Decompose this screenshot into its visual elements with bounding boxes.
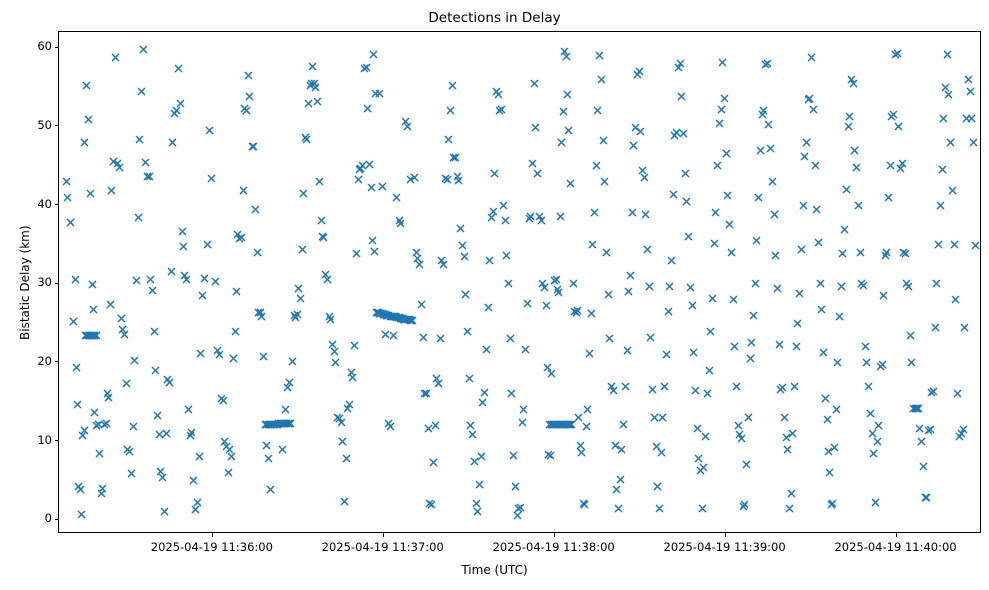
x-tick-label: 2025-04-19 11:36:00 (132, 540, 292, 554)
scatter-marker (495, 106, 504, 115)
scatter-marker (771, 251, 780, 260)
scatter-marker (345, 400, 354, 409)
scatter-marker (475, 480, 484, 489)
scatter-marker (662, 350, 671, 359)
scatter-marker (165, 378, 174, 387)
scatter-marker (617, 445, 626, 454)
scatter-marker (553, 285, 562, 294)
scatter-marker (911, 404, 920, 413)
scatter-marker (788, 429, 797, 438)
y-tick-mark (55, 204, 59, 205)
scatter-marker (787, 489, 796, 498)
scatter-marker (778, 383, 787, 392)
scatter-marker (88, 331, 97, 340)
scatter-marker (384, 311, 393, 320)
scatter-marker (691, 386, 700, 395)
scatter-marker (235, 234, 244, 243)
scatter-marker (95, 449, 104, 458)
scatter-marker (367, 183, 376, 192)
scatter-marker (195, 452, 204, 461)
scatter-marker (484, 303, 493, 312)
scatter-marker (72, 363, 81, 372)
scatter-marker (840, 225, 849, 234)
scatter-marker (684, 232, 693, 241)
scatter-marker (180, 271, 189, 280)
scatter-marker (137, 87, 146, 96)
scatter-marker (139, 45, 148, 54)
scatter-marker (90, 331, 99, 340)
scatter-marker (153, 411, 162, 420)
scatter-marker (265, 420, 274, 429)
scatter-marker (655, 504, 664, 513)
scatter-marker (579, 499, 588, 508)
scatter-marker (971, 241, 980, 250)
scatter-marker (545, 420, 554, 429)
scatter-marker (825, 468, 834, 477)
scatter-marker (914, 404, 923, 413)
scatter-marker (129, 422, 138, 431)
scatter-marker (454, 176, 463, 185)
scatter-marker (451, 153, 460, 162)
scatter-marker (465, 374, 474, 383)
scatter-marker (898, 159, 907, 168)
y-tick-label: 40 (24, 197, 52, 211)
scatter-points-layer (59, 32, 980, 532)
scatter-marker (134, 213, 143, 222)
scatter-marker (368, 236, 377, 245)
scatter-marker (298, 245, 307, 254)
scatter-marker (844, 122, 853, 131)
scatter-marker (308, 62, 317, 71)
scatter-marker (835, 312, 844, 321)
scatter-marker (944, 90, 953, 99)
scatter-marker (936, 201, 945, 210)
scatter-marker (934, 240, 943, 249)
scatter-marker (946, 138, 955, 147)
scatter-marker (538, 279, 547, 288)
scatter-marker (231, 327, 240, 336)
scatter-marker (635, 67, 644, 76)
scatter-marker (386, 422, 395, 431)
scatter-marker (715, 119, 724, 128)
scatter-marker (427, 500, 436, 509)
scatter-marker (92, 421, 101, 430)
scatter-marker (546, 451, 555, 460)
scatter-marker (331, 358, 340, 367)
scatter-marker (315, 177, 324, 186)
scatter-marker (847, 75, 856, 84)
scatter-marker (576, 441, 585, 450)
scatter-marker (600, 177, 609, 186)
scatter-marker (325, 312, 334, 321)
scatter-marker (111, 53, 120, 62)
scatter-marker (909, 404, 918, 413)
scatter-marker (519, 405, 528, 414)
scatter-marker (98, 484, 107, 493)
scatter-marker (874, 421, 883, 430)
scatter-marker (254, 308, 263, 317)
scatter-marker (443, 175, 452, 184)
scatter-marker (145, 172, 154, 181)
scatter-marker (525, 214, 534, 223)
scatter-marker (179, 242, 188, 251)
scatter-marker (172, 106, 181, 115)
scatter-marker (595, 51, 604, 60)
scatter-marker (873, 437, 882, 446)
scatter-marker (737, 434, 746, 443)
scatter-marker (182, 275, 191, 284)
scatter-marker (294, 284, 303, 293)
x-tick-mark (212, 533, 213, 537)
scatter-marker (81, 331, 90, 340)
scatter-marker (363, 104, 372, 113)
scatter-marker (102, 419, 111, 428)
scatter-marker (605, 334, 614, 343)
scatter-marker (146, 275, 155, 284)
scatter-marker (559, 107, 568, 116)
scatter-marker (540, 283, 549, 292)
scatter-marker (378, 182, 387, 191)
scatter-marker (543, 363, 552, 372)
scatter-marker (926, 425, 935, 434)
scatter-marker (473, 507, 482, 516)
scatter-marker (915, 424, 924, 433)
scatter-marker (90, 408, 99, 417)
scatter-marker (237, 233, 246, 242)
scatter-marker (174, 64, 183, 73)
scatter-marker (122, 379, 131, 388)
scatter-marker (381, 330, 390, 339)
scatter-marker (557, 420, 566, 429)
scatter-marker (340, 497, 349, 506)
scatter-marker (155, 430, 164, 439)
scatter-marker (688, 301, 697, 310)
scatter-marker (382, 311, 391, 320)
figure-canvas: Detections in Delay Bistatic Delay (km) … (0, 0, 989, 590)
scatter-marker (285, 419, 294, 428)
scatter-marker (780, 413, 789, 422)
y-tick-label: 60 (24, 39, 52, 53)
scatter-marker (604, 290, 613, 299)
scatter-marker (593, 106, 602, 115)
scatter-marker (528, 159, 537, 168)
scatter-marker (951, 295, 960, 304)
scatter-marker (80, 138, 89, 147)
scatter-marker (262, 441, 271, 450)
scatter-marker (123, 445, 132, 454)
scatter-marker (550, 420, 559, 429)
scatter-marker (919, 462, 928, 471)
x-axis-label: Time (UTC) (0, 563, 989, 577)
scatter-marker (383, 311, 392, 320)
scatter-marker (927, 388, 936, 397)
scatter-marker (489, 207, 498, 216)
scatter-marker (824, 447, 833, 456)
chart-title: Detections in Delay (0, 10, 989, 26)
scatter-marker (343, 404, 352, 413)
scatter-marker (373, 308, 382, 317)
scatter-marker (158, 473, 167, 482)
scatter-marker (871, 498, 880, 507)
scatter-marker (689, 348, 698, 357)
scatter-marker (827, 500, 836, 509)
scatter-marker (621, 382, 630, 391)
scatter-marker (896, 164, 905, 173)
scatter-marker (251, 205, 260, 214)
scatter-marker (572, 308, 581, 317)
scatter-marker (547, 420, 556, 429)
scatter-marker (87, 331, 96, 340)
scatter-marker (811, 161, 820, 170)
scatter-marker (623, 346, 632, 355)
scatter-marker (244, 71, 253, 80)
scatter-marker (857, 279, 866, 288)
scatter-marker (422, 389, 431, 398)
scatter-marker (758, 110, 767, 119)
scatter-marker (412, 248, 421, 257)
scatter-marker (240, 104, 249, 113)
scatter-marker (358, 161, 367, 170)
scatter-marker (929, 387, 938, 396)
scatter-marker (773, 284, 782, 293)
scatter-marker (425, 499, 434, 508)
scatter-marker (665, 282, 674, 291)
scatter-marker (906, 331, 915, 340)
scatter-marker (932, 279, 941, 288)
scatter-marker (242, 106, 251, 115)
scatter-marker (337, 418, 346, 427)
scatter-marker (85, 331, 94, 340)
scatter-marker (766, 144, 775, 153)
scatter-marker (118, 325, 127, 334)
scatter-marker (378, 309, 387, 318)
scatter-marker (360, 64, 369, 73)
scatter-marker (302, 135, 311, 144)
scatter-marker (404, 315, 413, 324)
y-tick-label: 10 (24, 433, 52, 447)
scatter-marker (293, 310, 302, 319)
scatter-marker (156, 467, 165, 476)
scatter-marker (355, 165, 364, 174)
scatter-marker (398, 314, 407, 323)
scatter-marker (866, 409, 875, 418)
scatter-marker (894, 122, 903, 131)
scatter-marker (518, 418, 527, 427)
scatter-marker (392, 193, 401, 202)
scatter-marker (86, 331, 95, 340)
y-tick-label: 30 (24, 275, 52, 289)
scatter-marker (537, 216, 546, 225)
scatter-marker (560, 47, 569, 56)
scatter-marker (420, 389, 429, 398)
scatter-marker (752, 236, 761, 245)
scatter-marker (703, 389, 712, 398)
scatter-marker (530, 79, 539, 88)
scatter-marker (693, 424, 702, 433)
scatter-marker (563, 420, 572, 429)
scatter-marker (833, 358, 842, 367)
scatter-marker (727, 248, 736, 257)
scatter-marker (551, 420, 560, 429)
scatter-marker (705, 366, 714, 375)
scatter-marker (135, 135, 144, 144)
scatter-marker (281, 419, 290, 428)
scatter-marker (239, 186, 248, 195)
scatter-marker (468, 430, 477, 439)
scatter-marker (814, 238, 823, 247)
scatter-marker (278, 419, 287, 428)
scatter-marker (191, 505, 200, 514)
scatter-marker (205, 126, 214, 135)
scatter-marker (611, 441, 620, 450)
scatter-marker (775, 340, 784, 349)
scatter-marker (290, 311, 299, 320)
scatter-marker (602, 248, 611, 257)
scatter-marker (74, 482, 83, 491)
scatter-marker (311, 83, 320, 92)
scatter-marker (326, 315, 335, 324)
scatter-marker (106, 300, 115, 309)
scatter-marker (730, 342, 739, 351)
scatter-marker (487, 213, 496, 222)
scatter-marker (403, 122, 412, 131)
scatter-marker (381, 310, 390, 319)
scatter-marker (253, 248, 262, 257)
scatter-marker (912, 404, 921, 413)
scatter-marker (313, 97, 322, 106)
scatter-marker (562, 52, 571, 61)
scatter-marker (552, 420, 561, 429)
scatter-marker (168, 138, 177, 147)
scatter-marker (710, 239, 719, 248)
scatter-marker (628, 208, 637, 217)
scatter-marker (783, 445, 792, 454)
scatter-marker (266, 420, 275, 429)
scatter-marker (950, 240, 959, 249)
scatter-marker (94, 420, 103, 429)
scatter-marker (391, 312, 400, 321)
scatter-marker (390, 312, 399, 321)
scatter-marker (893, 49, 902, 58)
scatter-marker (405, 315, 414, 324)
scatter-marker (785, 504, 794, 513)
scatter-marker (708, 294, 717, 303)
scatter-marker (338, 437, 347, 446)
scatter-marker (406, 316, 415, 325)
scatter-marker (902, 279, 911, 288)
scatter-marker (901, 249, 910, 258)
scatter-marker (396, 219, 405, 228)
scatter-marker (401, 315, 410, 324)
scatter-marker (550, 276, 559, 285)
x-tick-mark (725, 533, 726, 537)
scatter-marker (97, 489, 106, 498)
scatter-marker (259, 352, 268, 361)
scatter-marker (599, 136, 608, 145)
scatter-marker (317, 216, 326, 225)
scatter-marker (130, 356, 139, 365)
scatter-marker (437, 256, 446, 265)
scatter-marker (77, 510, 86, 519)
scatter-marker (735, 430, 744, 439)
scatter-marker (466, 421, 475, 430)
scatter-marker (310, 79, 319, 88)
scatter-marker (619, 420, 628, 429)
scatter-marker (497, 105, 506, 114)
scatter-marker (63, 193, 72, 202)
scatter-marker (638, 166, 647, 175)
y-tick-mark (55, 361, 59, 362)
scatter-marker (278, 445, 287, 454)
scatter-marker (749, 311, 758, 320)
scatter-marker (472, 499, 481, 508)
scatter-marker (921, 493, 930, 502)
scatter-marker (266, 485, 275, 494)
scatter-marker (395, 216, 404, 225)
scatter-marker (670, 131, 679, 140)
scatter-marker (672, 128, 681, 137)
scatter-marker (104, 393, 113, 402)
scatter-marker (217, 394, 226, 403)
scatter-marker (176, 99, 185, 108)
scatter-marker (948, 186, 957, 195)
scatter-marker (686, 283, 695, 292)
scatter-marker (281, 405, 290, 414)
scatter-marker (807, 53, 816, 62)
scatter-marker (590, 208, 599, 217)
scatter-marker (163, 375, 172, 384)
scatter-marker (386, 312, 395, 321)
scatter-marker (350, 341, 359, 350)
scatter-marker (62, 177, 71, 186)
scatter-marker (273, 420, 282, 429)
scatter-marker (756, 146, 765, 155)
scatter-marker (580, 500, 589, 509)
y-tick-label: 20 (24, 354, 52, 368)
scatter-marker (564, 126, 573, 135)
scatter-marker (887, 112, 896, 121)
scatter-marker (747, 338, 756, 347)
scatter-marker (717, 105, 726, 114)
scatter-marker (403, 315, 412, 324)
scatter-marker (184, 405, 193, 414)
scatter-marker (569, 279, 578, 288)
scatter-marker (583, 405, 592, 414)
plot-axes (58, 31, 981, 533)
scatter-marker (645, 282, 654, 291)
scatter-marker (264, 454, 273, 463)
scatter-marker (501, 216, 510, 225)
scatter-marker (861, 342, 870, 351)
scatter-marker (375, 89, 384, 98)
y-tick-mark (55, 283, 59, 284)
scatter-marker (886, 161, 895, 170)
scatter-marker (446, 106, 455, 115)
scatter-marker (151, 366, 160, 375)
scatter-marker (657, 448, 666, 457)
scatter-marker (233, 230, 242, 239)
scatter-marker (938, 165, 947, 174)
scatter-marker (211, 277, 220, 286)
scatter-marker (504, 279, 513, 288)
scatter-marker (587, 309, 596, 318)
scatter-marker (392, 313, 401, 322)
scatter-marker (100, 420, 109, 429)
scatter-marker (554, 420, 563, 429)
scatter-marker (849, 79, 858, 88)
scatter-marker (478, 398, 487, 407)
y-tick-label: 50 (24, 118, 52, 132)
